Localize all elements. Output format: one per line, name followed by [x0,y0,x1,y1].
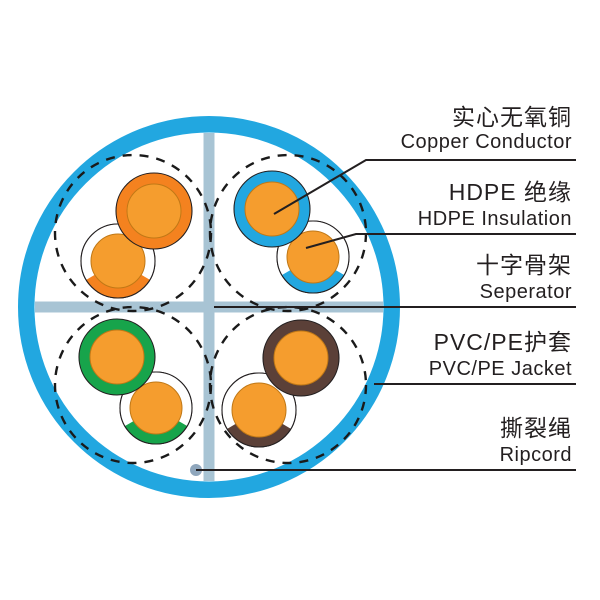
label-pvc-pe-jacket-en: PVC/PE Jacket [429,358,572,381]
label-copper-conductor-cn: 实心无氧铜 [452,104,572,130]
copper-core [127,184,181,238]
cable-cross-section-diagram: 实心无氧铜 Copper Conductor HDPE 绝缘 HDPE Insu… [0,0,600,600]
copper-core [130,382,182,434]
copper-core [245,182,299,236]
conductor-brown-solid [263,320,339,396]
label-pvc-pe-jacket-cn: PVC/PE护套 [434,329,572,355]
copper-core [274,331,328,385]
conductor-green-solid [79,319,155,395]
label-ripcord-en: Ripcord [500,444,572,467]
label-ripcord-cn: 撕裂绳 [500,415,572,441]
label-hdpe-insulation-en: HDPE Insulation [418,208,572,231]
label-separator-cn: 十字骨架 [476,252,572,278]
conductor-orange-solid [116,173,192,249]
copper-core [90,330,144,384]
label-hdpe-insulation-cn: HDPE 绝缘 [449,179,572,205]
copper-core [232,383,286,437]
label-separator-en: Seperator [480,281,572,304]
conductor-blue-solid [234,171,310,247]
label-copper-conductor-en: Copper Conductor [401,131,572,154]
